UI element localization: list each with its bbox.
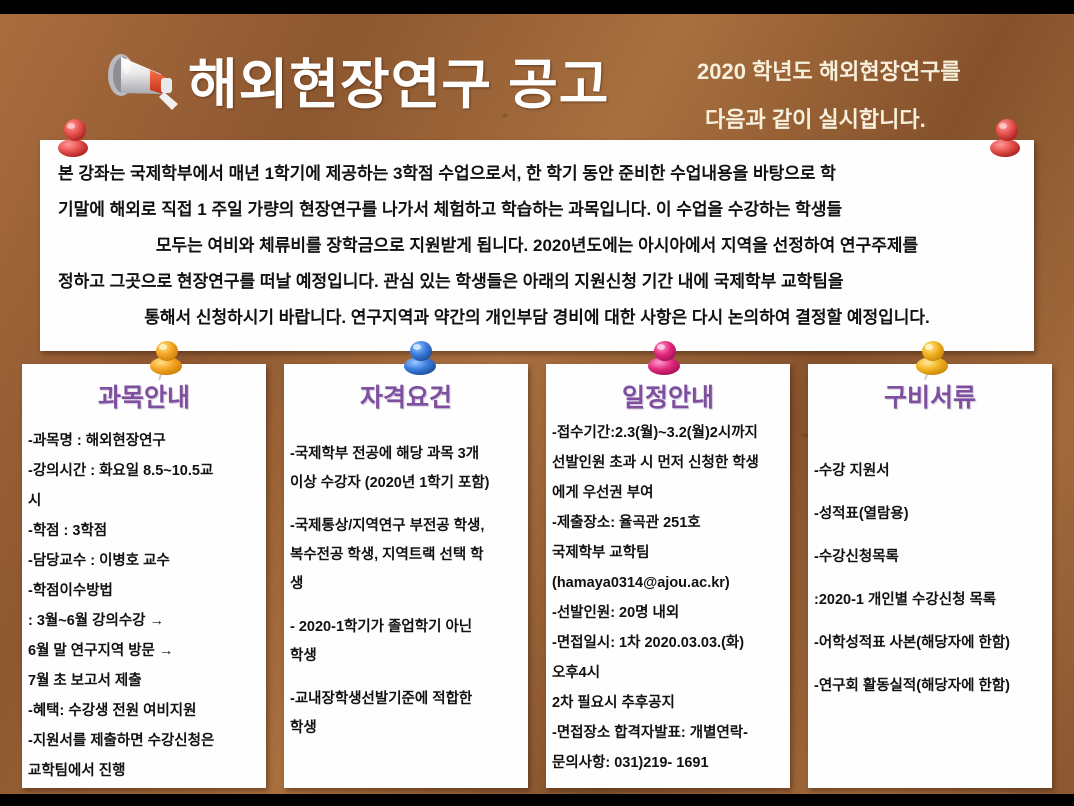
column-line: -선발인원: 20명 내외 [546,598,790,628]
column-line: 이상 수강자 (2020년 1학기 포함) [284,469,528,498]
column-line-spacer [284,498,528,512]
page-title: 해외현장연구 공고 [188,40,609,119]
column-eligibility: 자격요건 -국제학부 전공에 해당 과목 3개 이상 수강자 (2020년 1학… [284,364,528,788]
column-line: 생 [284,570,528,599]
header-subtitle: 2020 학년도 해외현장연구를 다음과 같이 실시합니다. [697,48,1027,144]
column-body: -국제학부 전공에 해당 과목 3개 이상 수강자 (2020년 1학기 포함)… [284,440,528,743]
column-line: -성적표(열람용) [808,493,1052,536]
column-line: 국제학부 교학팀 [546,538,790,568]
column-line: -담당교수 : 이병호 교수 [22,546,266,576]
description-text: 본 강좌는 국제학부에서 매년 1학기에 제공하는 3학점 수업으로서, 한 학… [58,156,1016,336]
column-line-spacer [284,671,528,685]
column-line: 에게 우선권 부여 [546,478,790,508]
column-heading: 과목안내 [22,378,266,414]
column-heading: 일정안내 [546,378,790,414]
column-line: -과목명 : 해외현장연구 [22,426,266,456]
column-line: -학점 : 3학점 [22,516,266,546]
column-line: 시 [22,486,266,516]
description-line: 모두는 여비와 체류비를 장학금으로 지원받게 됩니다. 2020년도에는 아시… [58,228,1016,264]
column-line: -면접일시: 1차 2020.03.03.(화) [546,628,790,658]
column-line: -강의시간 : 화요일 8.5~10.5교 [22,456,266,486]
megaphone-icon [104,50,190,112]
description-panel: 본 강좌는 국제학부에서 매년 1학기에 제공하는 3학점 수업으로서, 한 학… [40,140,1034,351]
column-body: -수강 지원서 -성적표(열람용) -수강신청목록 :2020-1 개인별 수강… [808,450,1052,708]
column-line: 교학팀에서 진행 [22,756,266,786]
column-line: 6월 말 연구지역 방문 → [22,636,266,666]
column-line: 학생 [284,642,528,671]
column-heading: 구비서류 [808,378,1052,414]
poster-board: 해외현장연구 공고 2020 학년도 해외현장연구를 다음과 같이 실시합니다.… [0,14,1074,794]
column-line: -어학성적표 사본(해당자에 한함) [808,622,1052,665]
column-required-documents: 구비서류 -수강 지원서 -성적표(열람용) -수강신청목록 :2020-1 개… [808,364,1052,788]
column-line: 7월 초 보고서 제출 [22,666,266,696]
poster-header: 해외현장연구 공고 2020 학년도 해외현장연구를 다음과 같이 실시합니다. [0,14,1074,132]
description-line: 통해서 신청하시기 바랍니다. 연구지역과 약간의 개인부담 경비에 대한 사항… [58,300,1016,336]
column-line: 문의사항: 031)219- 1691 [546,748,790,778]
column-line: 오후4시 [546,658,790,688]
column-heading: 자격요건 [284,378,528,414]
column-line: 2차 필요시 추후공지 [546,688,790,718]
column-line-spacer [284,599,528,613]
column-line: - 2020-1학기가 졸업학기 아닌 [284,613,528,642]
column-schedule: 일정안내 -접수기간:2.3(월)~3.2(월)2시까지 선발인원 초과 시 먼… [546,364,790,788]
column-line: (hamaya0314@ajou.ac.kr) [546,568,790,598]
column-line: -지원서를 제출하면 수강신청은 [22,726,266,756]
header-subtitle-line-2: 다음과 같이 실시합니다. [697,96,1027,144]
column-line: 선발인원 초과 시 먼저 신청한 학생 [546,448,790,478]
column-body: -과목명 : 해외현장연구 -강의시간 : 화요일 8.5~10.5교 시 -학… [22,426,266,786]
column-line: 복수전공 학생, 지역트랙 선택 학 [284,541,528,570]
description-line: 본 강좌는 국제학부에서 매년 1학기에 제공하는 3학점 수업으로서, 한 학… [58,156,1016,192]
column-line: -국제통상/지역연구 부전공 학생, [284,512,528,541]
column-body: -접수기간:2.3(월)~3.2(월)2시까지 선발인원 초과 시 먼저 신청한… [546,418,790,778]
header-subtitle-line-1: 2020 학년도 해외현장연구를 [697,48,1027,96]
column-line: -학점이수방법 [22,576,266,606]
info-columns: 과목안내 -과목명 : 해외현장연구 -강의시간 : 화요일 8.5~10.5교… [22,364,1052,788]
column-line: -국제학부 전공에 해당 과목 3개 [284,440,528,469]
column-line: -제출장소: 율곡관 251호 [546,508,790,538]
column-line: -교내장학생선발기준에 적합한 [284,685,528,714]
column-line: -접수기간:2.3(월)~3.2(월)2시까지 [546,418,790,448]
column-line: : 3월~6월 강의수강 → [22,606,266,636]
column-line: -연구회 활동실적(해당자에 한함) [808,665,1052,708]
description-line: 기말에 해외로 직접 1 주일 가량의 현장연구를 나가서 체험하고 학습하는 … [58,192,1016,228]
column-subject-info: 과목안내 -과목명 : 해외현장연구 -강의시간 : 화요일 8.5~10.5교… [22,364,266,788]
column-line: -수강신청목록 [808,536,1052,579]
column-line: -혜택: 수강생 전원 여비지원 [22,696,266,726]
column-line: 학생 [284,714,528,743]
column-line: -수강 지원서 [808,450,1052,493]
column-line: -면접장소 합격자발표: 개별연락- [546,718,790,748]
description-line: 정하고 그곳으로 현장연구를 떠날 예정입니다. 관심 있는 학생들은 아래의 … [58,264,1016,300]
column-line: :2020-1 개인별 수강신청 목록 [808,579,1052,622]
